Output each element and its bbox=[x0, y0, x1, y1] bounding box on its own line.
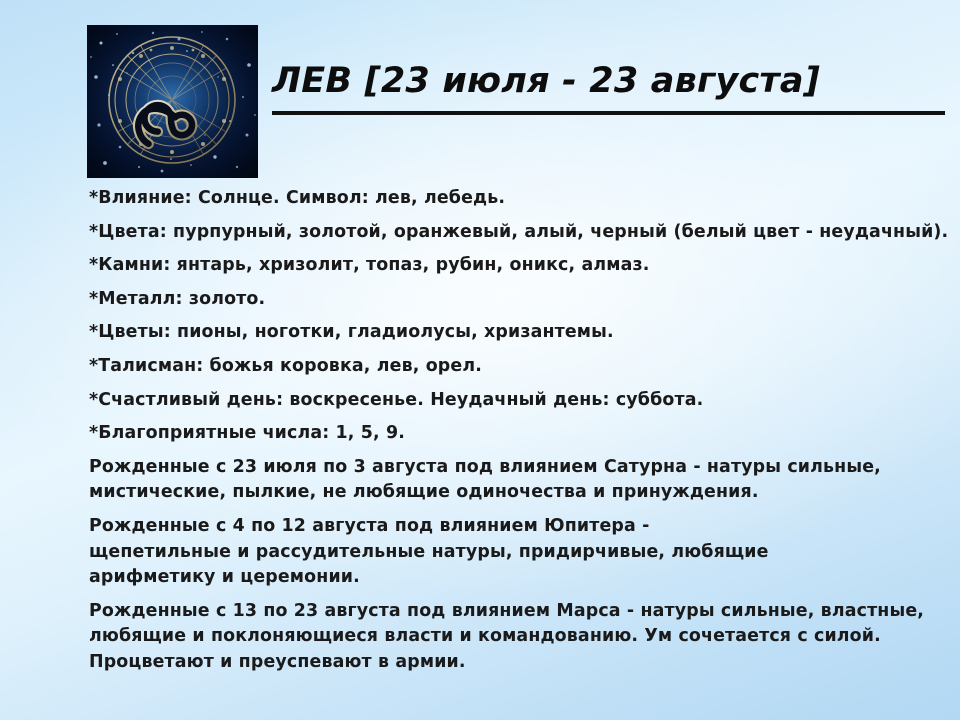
attribute-talisman: *Талисман: божья коровка, лев, орел. bbox=[89, 354, 779, 380]
title-underline bbox=[272, 111, 945, 115]
attribute-influence: *Влияние: Солнце. Символ: лев, лебедь. bbox=[89, 186, 779, 212]
leo-zodiac-wheel-image bbox=[87, 25, 258, 178]
attribute-flowers: *Цветы: пионы, ноготки, гладиолусы, хриз… bbox=[89, 320, 779, 346]
decan-saturn: Рожденные с 23 июля по 3 августа под вли… bbox=[89, 455, 951, 506]
attribute-stones: *Камни: янтарь, хризолит, топаз, рубин, … bbox=[89, 253, 779, 279]
decan-jupiter: Рожденные с 4 по 12 августа под влиянием… bbox=[89, 514, 779, 591]
decan-mars: Рожденные с 13 по 23 августа под влияние… bbox=[89, 599, 951, 676]
attribute-colors: *Цвета: пурпурный, золотой, оранжевый, а… bbox=[89, 220, 951, 246]
page-title: ЛЕВ [23 июля - 23 августа] bbox=[272, 58, 948, 104]
horoscope-slide: ЛЕВ [23 июля - 23 августа] *Влияние: Сол… bbox=[0, 0, 960, 720]
attribute-lucky-numbers: *Благоприятные числа: 1, 5, 9. bbox=[89, 421, 779, 447]
attribute-lucky-day: *Счастливый день: воскресенье. Неудачный… bbox=[89, 388, 779, 414]
attribute-metal: *Металл: золото. bbox=[89, 287, 779, 313]
zodiac-wheel-icon bbox=[87, 25, 258, 178]
horoscope-body: *Влияние: Солнце. Символ: лев, лебедь. *… bbox=[89, 186, 951, 676]
